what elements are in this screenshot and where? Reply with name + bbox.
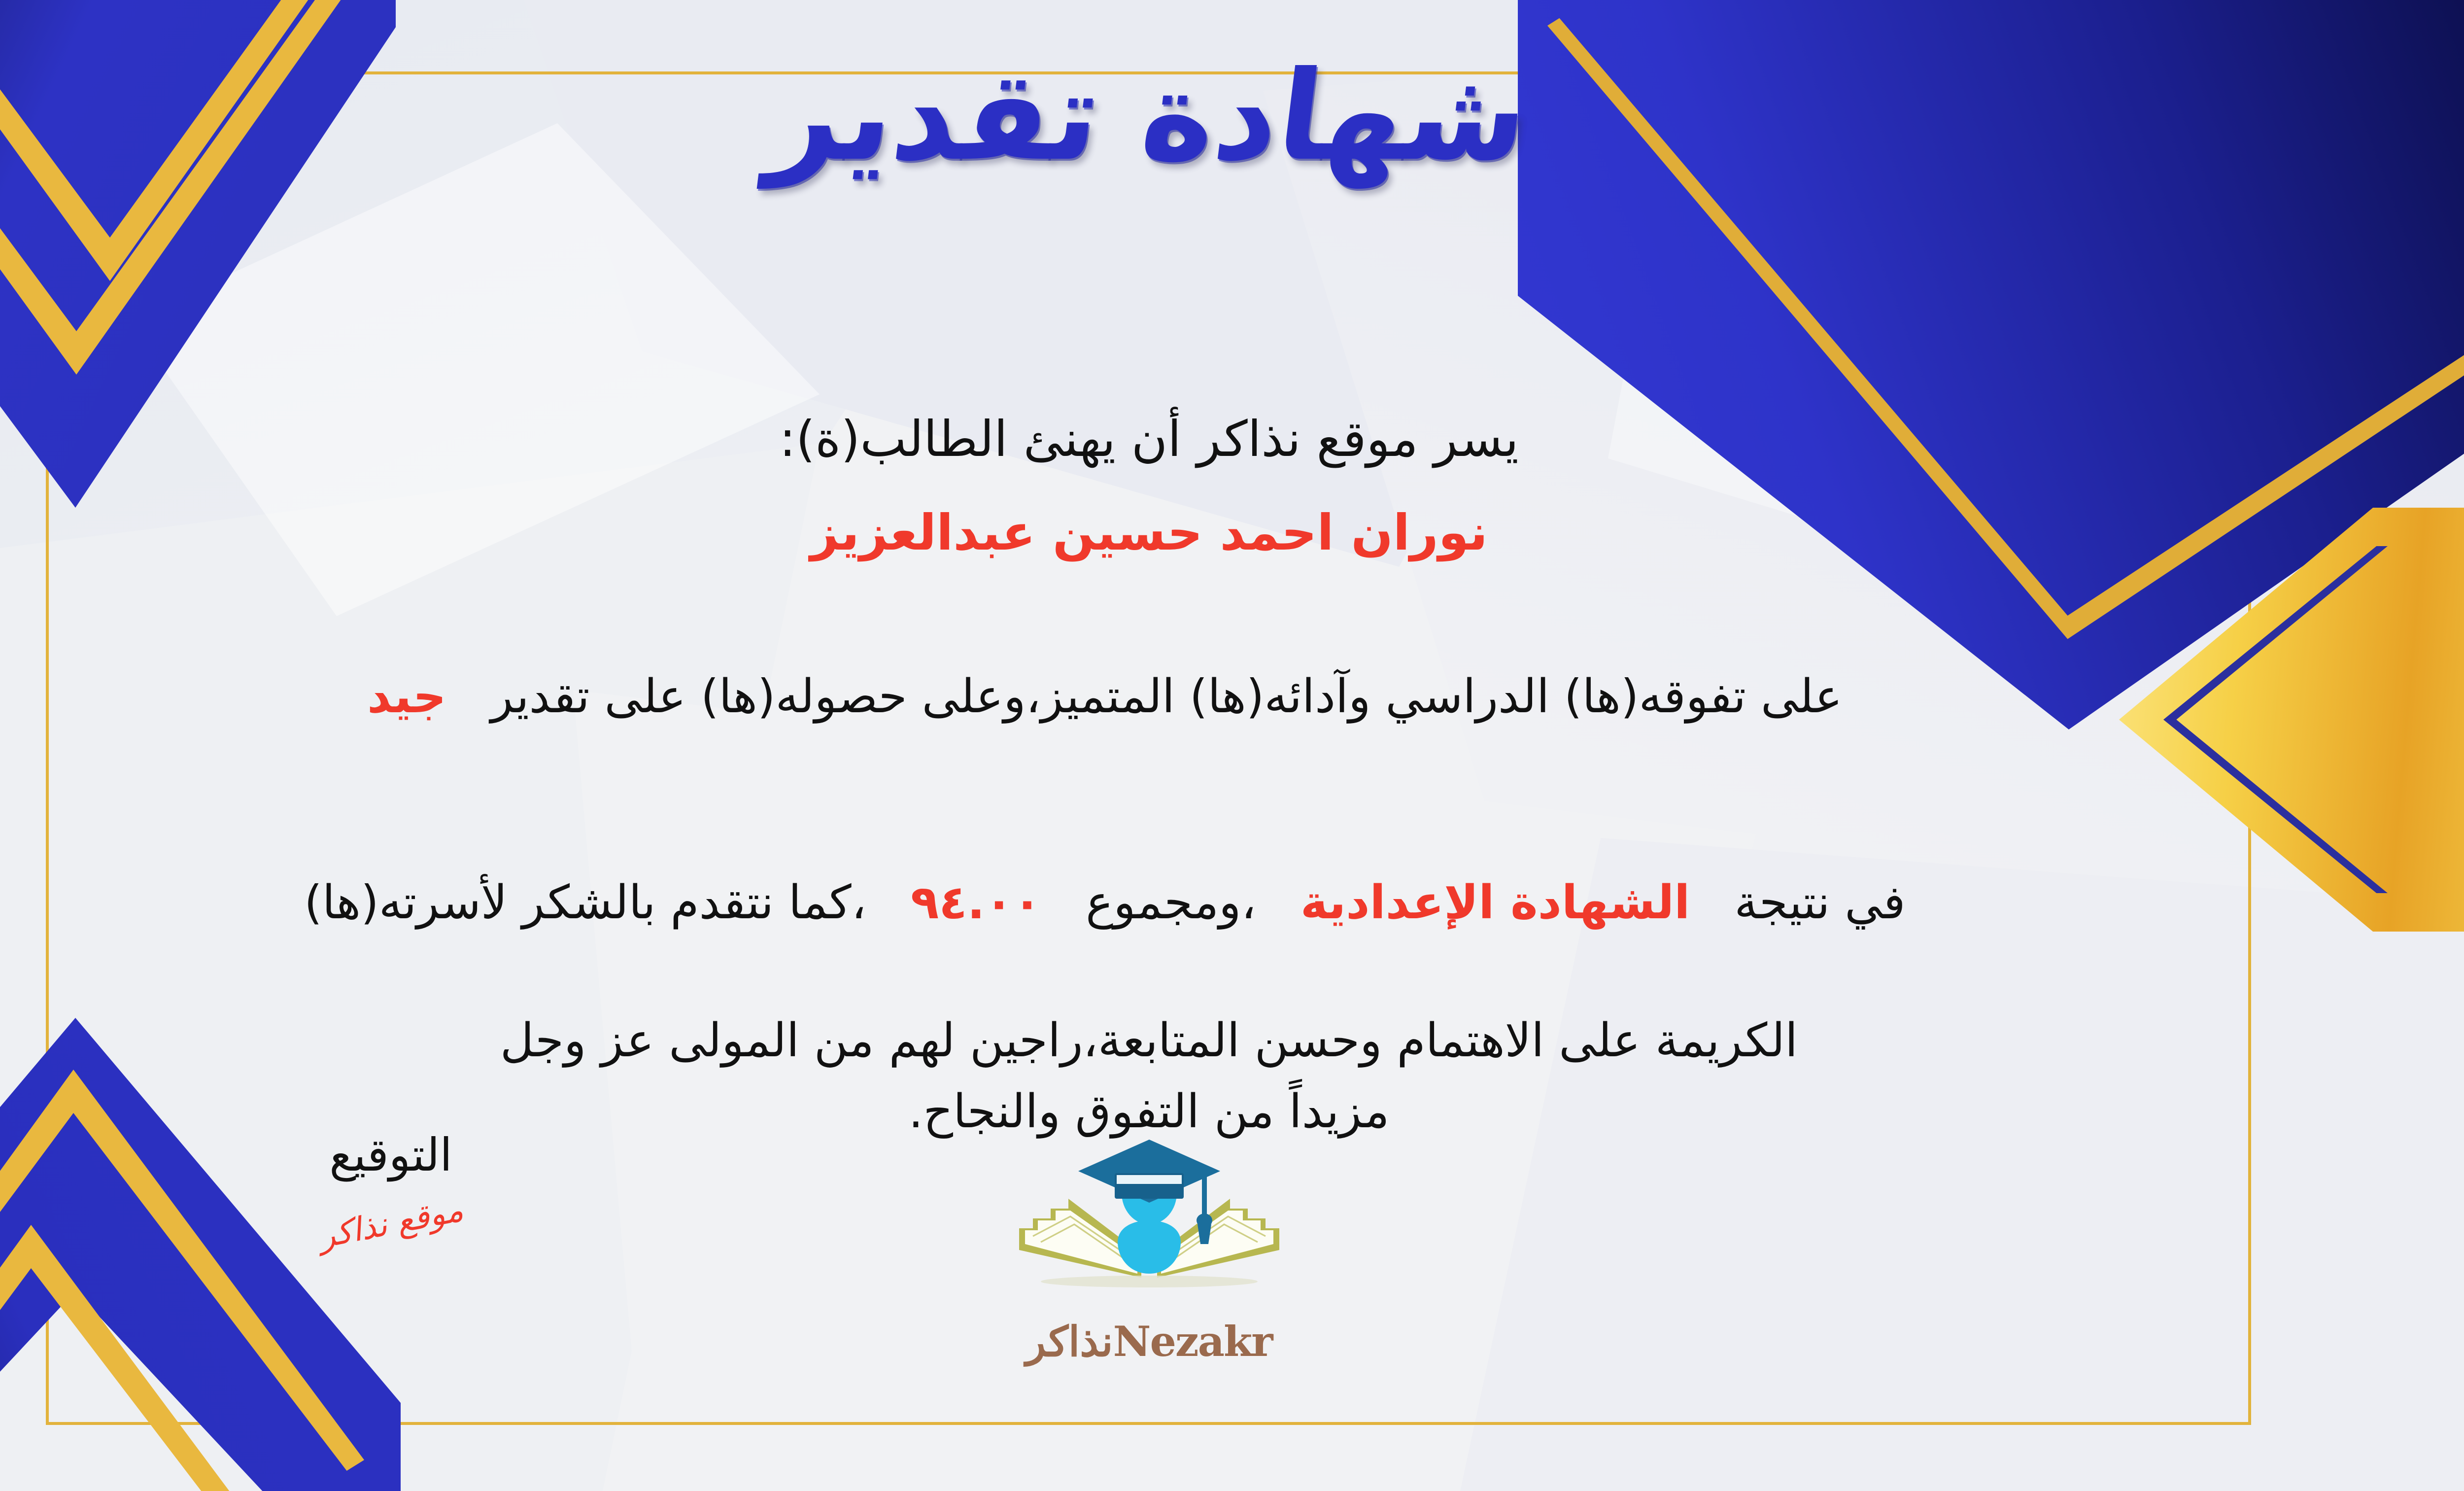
para2-text-b: ،ومجموع (1086, 876, 1256, 930)
signature-block: التوقيع موقع نذاكر (238, 1129, 544, 1242)
intro-line: يسر موقع نذاكر أن يهنئ الطالب(ة): (46, 404, 2252, 474)
brand-name-latin: Nezakr (1113, 1317, 1272, 1366)
para2-text-a: في نتيجة (1734, 876, 1905, 930)
brand-name-arabic: نذاكر (1026, 1317, 1113, 1366)
brand-wordmark: Nezakrنذاكر (962, 1317, 1336, 1366)
para1-text: على تفوقه(ها) الدراسي وآدائه(ها) المتميز… (491, 670, 1843, 724)
student-name: نوران احمد حسين عبدالعزيز (46, 498, 2252, 568)
para2-text-c: ،كما نتقدم بالشكر لأسرته(ها) (304, 876, 866, 930)
signature-label: التوقيع (238, 1129, 544, 1181)
paragraph-line-1: على تفوقه(ها) الدراسي وآدائه(ها) المتميز… (46, 595, 2252, 798)
paragraph-line-3: الكريمة على الاهتمام وحسن المتابعة،راجين… (46, 1007, 2252, 1075)
title-area: شهادة تقدير (0, 39, 2464, 194)
total-score-value: ٩٤.٠٠ (911, 876, 1041, 930)
brand-logo: Nezakrنذاكر (962, 1134, 1336, 1366)
certificate-body: يسر موقع نذاكر أن يهنئ الطالب(ة): نوران … (46, 404, 2252, 1148)
certificate-title: شهادة تقدير (761, 39, 1537, 194)
certificate-page: شهادة تقدير يسر موقع نذاكر أن يهنئ الطال… (0, 0, 2464, 1491)
exam-name-value: الشهادة الإعدادية (1300, 876, 1690, 930)
graduation-cap-band-highlight (1117, 1175, 1182, 1184)
graduate-on-open-book-icon (1011, 1134, 1287, 1316)
grade-value: جيد (367, 670, 446, 724)
paragraph-line-2: في نتيجةالشهادة الإعدادية،ومجموع٩٤.٠٠،كم… (46, 801, 2252, 1005)
book-shadow (1041, 1276, 1258, 1287)
